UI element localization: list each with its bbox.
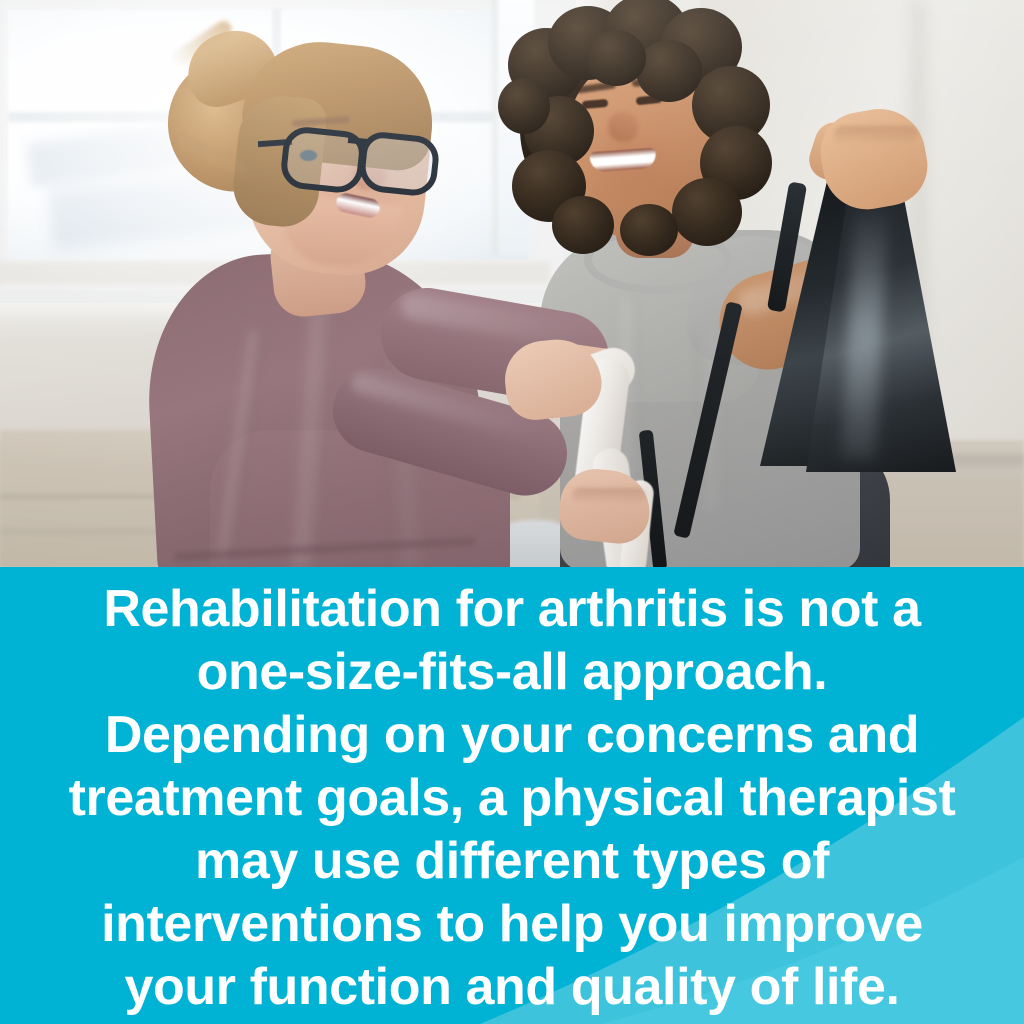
social-graphic-card: Rehabilitation for arthritis is not a on… <box>0 0 1024 1024</box>
caption-text-block: Rehabilitation for arthritis is not a on… <box>0 567 1024 1024</box>
photo-color-grade <box>0 0 1024 567</box>
hero-photo <box>0 0 1024 567</box>
caption-text: Rehabilitation for arthritis is not a on… <box>62 572 962 1019</box>
caption-panel: Rehabilitation for arthritis is not a on… <box>0 567 1024 1024</box>
